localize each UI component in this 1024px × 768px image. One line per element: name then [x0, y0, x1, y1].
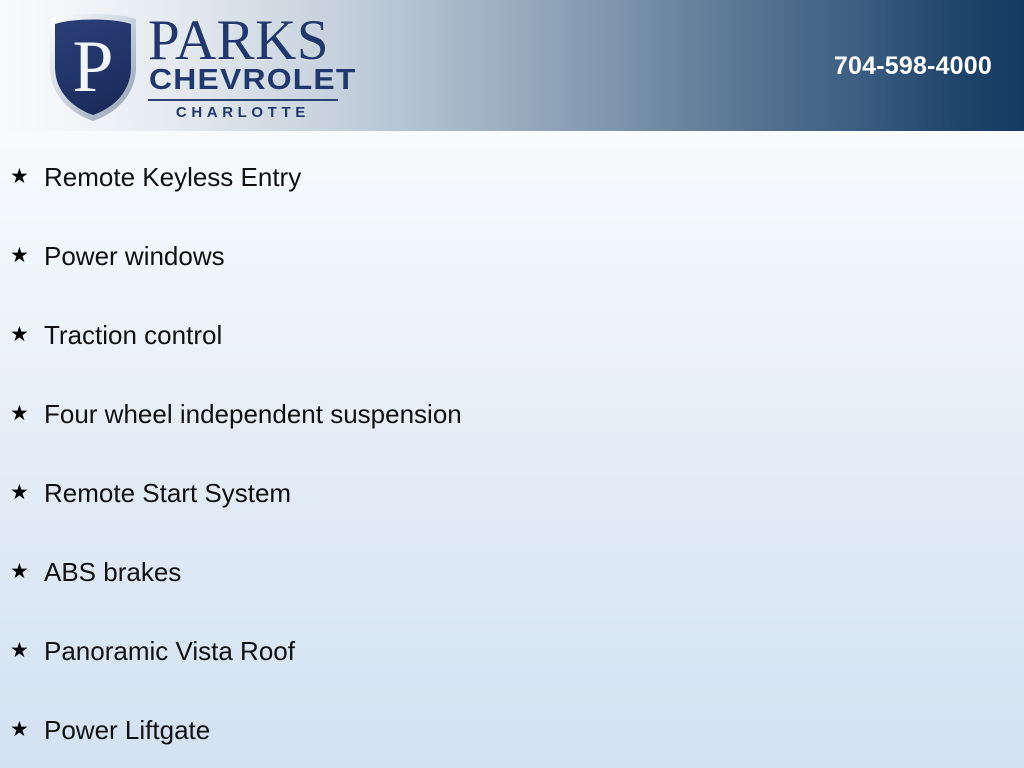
star-icon: ★	[10, 561, 44, 582]
brand-divider-rule	[148, 99, 338, 101]
brand-wordmark: PARKS CHEVROLET CHARLOTTE	[148, 12, 338, 120]
list-item: ★ Four wheel independent suspension	[0, 374, 1024, 453]
list-item: ★ Traction control	[0, 295, 1024, 374]
list-item: ★ Remote Keyless Entry	[0, 137, 1024, 216]
feature-label: Traction control	[44, 322, 222, 348]
vehicle-feature-list: ★ Remote Keyless Entry ★ Power windows ★…	[0, 131, 1024, 768]
feature-label: Panoramic Vista Roof	[44, 638, 295, 664]
list-item: ★ Power Liftgate	[0, 690, 1024, 768]
feature-label: Power Liftgate	[44, 717, 210, 743]
feature-label: Remote Keyless Entry	[44, 164, 301, 190]
list-item: ★ ABS brakes	[0, 532, 1024, 611]
svg-text:P: P	[72, 26, 113, 108]
list-item: ★ Remote Start System	[0, 453, 1024, 532]
brand-logo[interactable]: P PARKS CHEVROLET CHARLOTTE	[44, 8, 338, 124]
feature-label: Four wheel independent suspension	[44, 401, 462, 427]
brand-name-primary: PARKS	[148, 14, 338, 68]
feature-label: Remote Start System	[44, 480, 291, 506]
shield-icon: P	[44, 9, 142, 123]
brand-name-secondary: CHEVROLET	[149, 66, 357, 96]
star-icon: ★	[10, 166, 44, 187]
star-icon: ★	[10, 245, 44, 266]
feature-label: ABS brakes	[44, 559, 181, 585]
star-icon: ★	[10, 324, 44, 345]
star-icon: ★	[10, 640, 44, 661]
site-header: P PARKS CHEVROLET CHARLOTTE 704-598-4000	[0, 0, 1024, 131]
star-icon: ★	[10, 403, 44, 424]
list-item: ★ Panoramic Vista Roof	[0, 611, 1024, 690]
phone-number[interactable]: 704-598-4000	[834, 52, 992, 81]
feature-label: Power windows	[44, 243, 225, 269]
list-item: ★ Power windows	[0, 216, 1024, 295]
brand-location: CHARLOTTE	[148, 105, 338, 120]
star-icon: ★	[10, 482, 44, 503]
star-icon: ★	[10, 719, 44, 740]
